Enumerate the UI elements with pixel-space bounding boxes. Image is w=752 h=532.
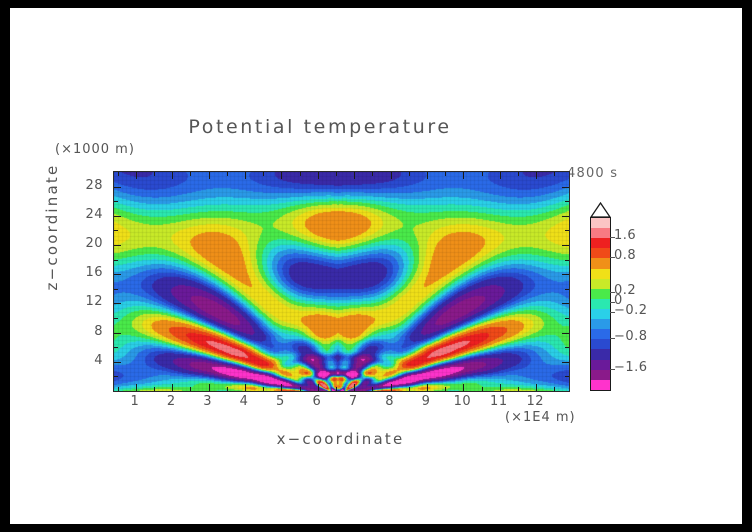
- x-minor-tick: [372, 172, 373, 176]
- x-minor-tick: [263, 172, 264, 176]
- y-tick: [562, 303, 569, 304]
- x-tick: [136, 172, 137, 179]
- colorbar-band: [591, 269, 610, 279]
- x-tick: [463, 384, 464, 391]
- colorbar-band: [591, 299, 610, 309]
- y-tick-label: 4: [69, 353, 103, 368]
- colorbar-tick: [610, 338, 615, 339]
- x-tick: [463, 172, 464, 179]
- colorbar-band: [591, 339, 610, 349]
- x-tick: [354, 384, 355, 391]
- x-minor-tick: [518, 387, 519, 391]
- y-minor-tick: [114, 230, 118, 231]
- x-minor-tick: [482, 387, 483, 391]
- y-minor-tick: [114, 318, 118, 319]
- x-minor-tick: [190, 172, 191, 176]
- y-minor-tick: [565, 318, 569, 319]
- x-tick: [172, 172, 173, 179]
- colorbar-tick-label: 1.6: [614, 228, 636, 243]
- y-tick: [562, 187, 569, 188]
- y-tick-label: 12: [69, 294, 103, 309]
- colorbar-band: [591, 238, 610, 248]
- colorbar-band: [591, 319, 610, 329]
- x-tick: [391, 172, 392, 179]
- y-tick-label: 16: [69, 265, 103, 280]
- x-tick-label: 9: [411, 394, 441, 409]
- x-tick: [209, 384, 210, 391]
- x-tick-label: 5: [265, 394, 295, 409]
- y-minor-tick: [114, 201, 118, 202]
- colorbar-tick-label: −0.8: [614, 329, 648, 344]
- x-tick: [281, 172, 282, 179]
- y-tick-label: 8: [69, 324, 103, 339]
- potential-temperature-field: [114, 172, 569, 391]
- y-tick: [114, 216, 121, 217]
- timestamp-label: 4800 s: [567, 166, 618, 181]
- y-tick: [562, 216, 569, 217]
- colorbar-band: [591, 329, 610, 339]
- x-tick-label: 1: [120, 394, 150, 409]
- colorbar: [590, 217, 611, 391]
- colorbar-band: [591, 349, 610, 359]
- y-minor-tick: [114, 347, 118, 348]
- x-minor-tick: [190, 387, 191, 391]
- x-tick: [536, 172, 537, 179]
- x-tick: [500, 384, 501, 391]
- x-axis-title: x−coordinate: [188, 430, 493, 448]
- x-minor-tick: [118, 172, 119, 176]
- x-tick-label: 8: [375, 394, 405, 409]
- x-minor-tick: [336, 387, 337, 391]
- y-tick: [114, 333, 121, 334]
- colorbar-band: [591, 228, 610, 238]
- x-tick: [536, 384, 537, 391]
- colorbar-tick: [610, 369, 615, 370]
- x-tick-label: 11: [484, 394, 514, 409]
- y-tick: [562, 362, 569, 363]
- contour-plot: [113, 171, 570, 392]
- x-tick: [245, 384, 246, 391]
- x-minor-tick: [409, 387, 410, 391]
- x-minor-tick: [554, 172, 555, 176]
- colorbar-band: [591, 258, 610, 268]
- y-minor-tick: [565, 347, 569, 348]
- x-tick: [281, 384, 282, 391]
- x-minor-tick: [336, 172, 337, 176]
- x-tick: [318, 172, 319, 179]
- colorbar-band: [591, 309, 610, 319]
- x-minor-tick: [445, 172, 446, 176]
- x-minor-tick: [372, 387, 373, 391]
- y-minor-tick: [565, 376, 569, 377]
- colorbar-top-arrow: [590, 202, 611, 218]
- colorbar-tick: [610, 237, 615, 238]
- y-tick: [562, 274, 569, 275]
- x-minor-tick: [154, 387, 155, 391]
- y-tick: [562, 245, 569, 246]
- y-minor-tick: [565, 260, 569, 261]
- x-tick: [391, 384, 392, 391]
- x-tick: [500, 172, 501, 179]
- x-tick: [318, 384, 319, 391]
- y-tick-label: 28: [69, 178, 103, 193]
- x-minor-tick: [300, 172, 301, 176]
- colorbar-band: [591, 218, 610, 228]
- x-tick: [245, 172, 246, 179]
- y-tick: [114, 303, 121, 304]
- x-tick-label: 4: [229, 394, 259, 409]
- y-minor-tick: [565, 289, 569, 290]
- y-minor-tick: [114, 376, 118, 377]
- y-minor-tick: [565, 201, 569, 202]
- colorbar-tick: [610, 312, 615, 313]
- x-tick-label: 6: [302, 394, 332, 409]
- colorbar-band: [591, 380, 610, 390]
- x-minor-tick: [227, 387, 228, 391]
- colorbar-band: [591, 248, 610, 258]
- y-tick-label: 20: [69, 236, 103, 251]
- y-tick: [114, 245, 121, 246]
- x-tick-label: 12: [520, 394, 550, 409]
- x-tick: [427, 384, 428, 391]
- colorbar-tick: [610, 257, 615, 258]
- colorbar-tick-label: −0.2: [614, 303, 648, 318]
- x-minor-tick: [300, 387, 301, 391]
- colorbar-tick-label: −1.6: [614, 360, 648, 375]
- x-tick-label: 10: [447, 394, 477, 409]
- x-tick-label: 7: [338, 394, 368, 409]
- x-minor-tick: [154, 172, 155, 176]
- x-tick: [136, 384, 137, 391]
- x-tick-label: 3: [193, 394, 223, 409]
- y-axis-unit-label: (×1000 m): [55, 142, 135, 157]
- figure-canvas: Potential temperature (×1000 m) 4800 s 1…: [10, 8, 742, 524]
- y-tick: [114, 187, 121, 188]
- page-title: Potential temperature: [10, 116, 630, 138]
- x-minor-tick: [227, 172, 228, 176]
- y-axis-title: z−coordinate: [43, 147, 61, 307]
- colorbar-tick-label: 0.8: [614, 248, 636, 263]
- colorbar-band: [591, 279, 610, 289]
- colorbar-band: [591, 370, 610, 380]
- x-minor-tick: [445, 387, 446, 391]
- x-minor-tick: [518, 172, 519, 176]
- y-tick: [114, 362, 121, 363]
- colorbar-band: [591, 360, 610, 370]
- y-minor-tick: [114, 289, 118, 290]
- image-border: Potential temperature (×1000 m) 4800 s 1…: [0, 0, 752, 532]
- x-tick: [172, 384, 173, 391]
- x-minor-tick: [482, 172, 483, 176]
- y-tick: [562, 333, 569, 334]
- y-minor-tick: [565, 230, 569, 231]
- x-tick: [209, 172, 210, 179]
- x-minor-tick: [554, 387, 555, 391]
- y-tick-label: 24: [69, 207, 103, 222]
- x-tick: [354, 172, 355, 179]
- y-tick: [114, 274, 121, 275]
- x-axis-unit-label: (×1E4 m): [505, 410, 576, 425]
- x-tick: [427, 172, 428, 179]
- x-minor-tick: [118, 387, 119, 391]
- x-minor-tick: [409, 172, 410, 176]
- y-minor-tick: [114, 260, 118, 261]
- colorbar-band: [591, 289, 610, 299]
- x-tick-label: 2: [156, 394, 186, 409]
- x-minor-tick: [263, 387, 264, 391]
